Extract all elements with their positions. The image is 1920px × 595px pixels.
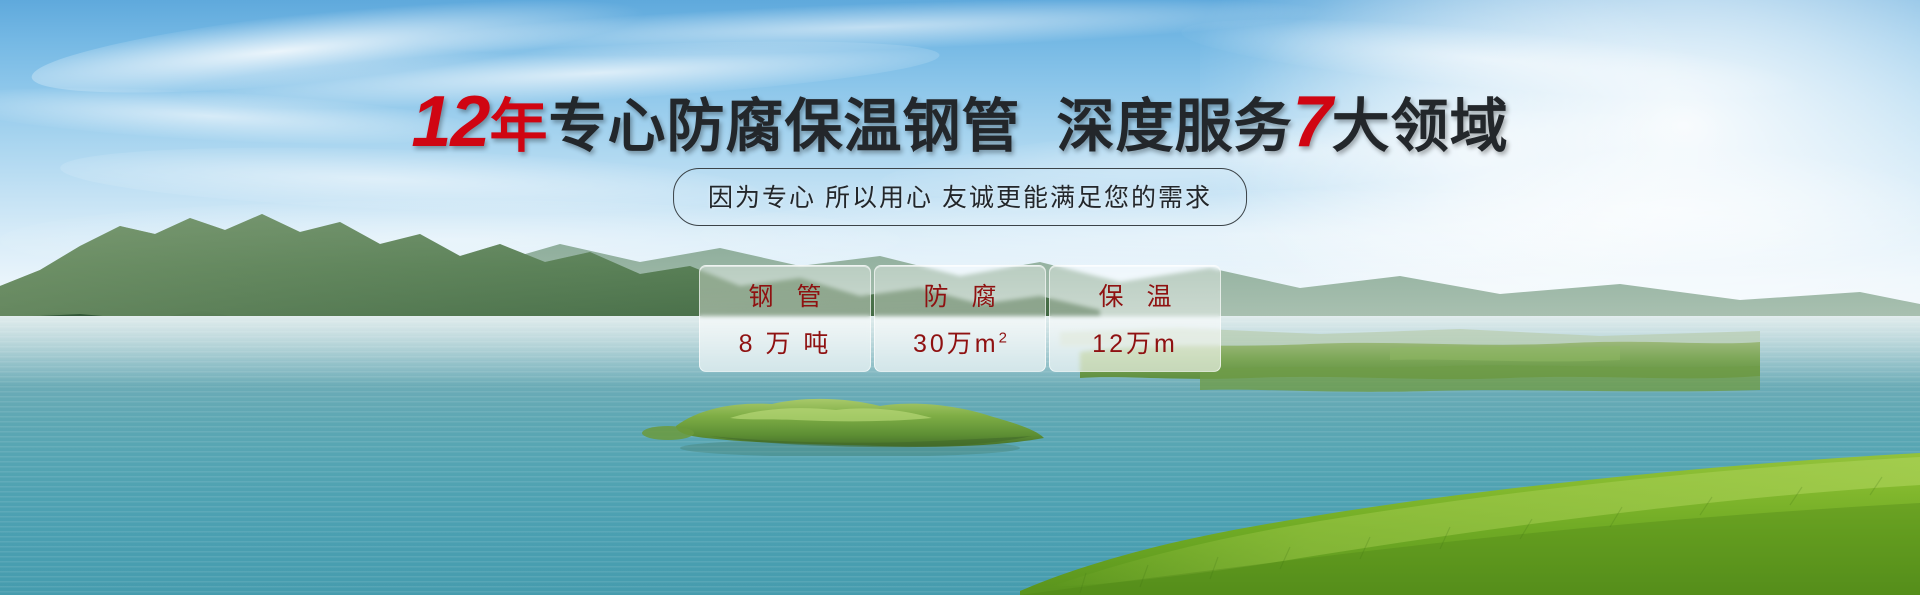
stat-value-text: 12万m xyxy=(1092,330,1178,358)
stat-card-steel-pipe[interactable]: 钢 管 8 万 吨 xyxy=(699,265,871,372)
grass-field xyxy=(1020,415,1920,595)
hero-banner: 12年专心防腐保温钢管深度服务7大领域 因为专心 所以用心 友诚更能满足您的需求… xyxy=(0,0,1920,595)
stat-value-text: 8 万 吨 xyxy=(739,330,832,358)
stat-card-value: 12万m xyxy=(1092,324,1178,360)
stat-card-anticorrosion[interactable]: 防 腐 30万m2 xyxy=(874,265,1046,372)
grass-island xyxy=(640,386,1060,456)
slogan-text: 因为专心 所以用心 友诚更能满足您的需求 xyxy=(708,184,1212,212)
stat-card-value: 30万m2 xyxy=(913,324,1007,360)
stats-card-group: 钢 管 8 万 吨 防 腐 30万m2 保 温 12万m xyxy=(699,265,1221,372)
headline-fields-text: 大领域 xyxy=(1332,94,1509,159)
stat-card-value: 8 万 吨 xyxy=(739,324,832,360)
stat-card-insulation[interactable]: 保 温 12万m xyxy=(1049,265,1221,372)
slogan-pill: 因为专心 所以用心 友诚更能满足您的需求 xyxy=(673,168,1247,226)
stat-card-label: 保 温 xyxy=(1091,277,1180,313)
stat-card-label: 钢 管 xyxy=(741,277,830,313)
headline-fields-number: 7 xyxy=(1293,82,1332,162)
headline-service-text: 深度服务 xyxy=(1057,94,1293,159)
stat-card-label: 防 腐 xyxy=(916,277,1005,313)
stat-value-superscript: 2 xyxy=(999,330,1007,347)
headline-main-text: 专心防腐保温钢管 xyxy=(549,94,1021,159)
headline-years-unit: 年 xyxy=(489,94,548,159)
headline-years-number: 12 xyxy=(411,82,489,162)
page-title: 12年专心防腐保温钢管深度服务7大领域 xyxy=(0,86,1920,158)
stat-value-text: 30万m xyxy=(913,330,999,358)
